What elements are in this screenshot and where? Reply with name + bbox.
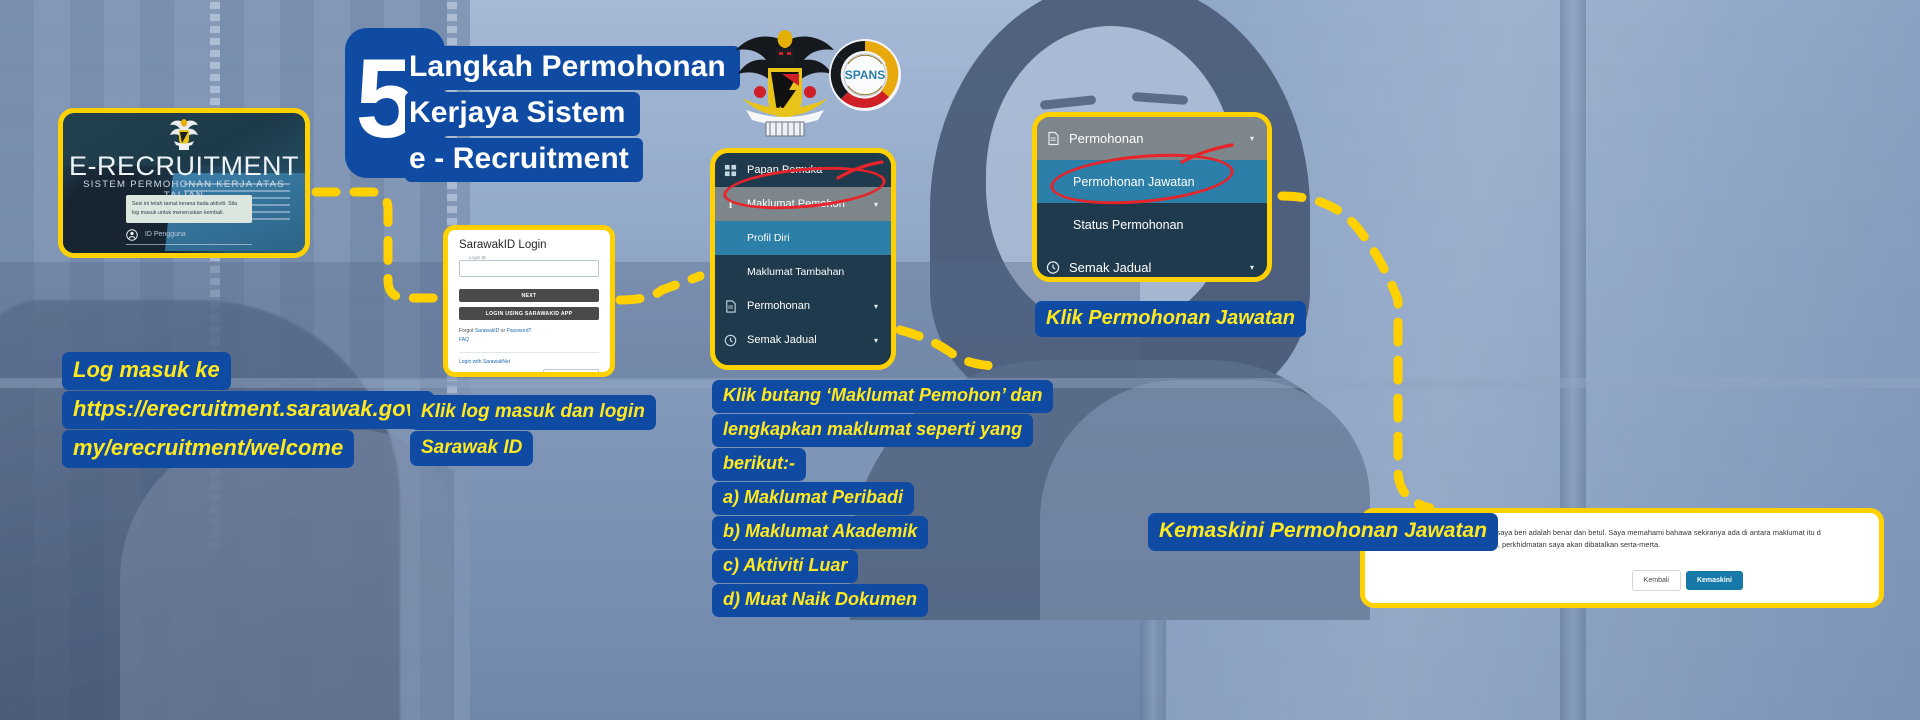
document-icon <box>1046 131 1060 146</box>
sidebar-label: Semak Jadual <box>747 334 871 346</box>
caption-line: Klik Permohonan Jawatan <box>1035 301 1306 337</box>
caption-line: b) Maklumat Akademik <box>712 516 928 549</box>
no-account-label: Don't have an account yet? <box>459 374 519 378</box>
faq-link[interactable]: FAQ <box>459 337 469 343</box>
title-line-3: e - Recruitment <box>405 138 643 182</box>
lock-icon <box>126 253 138 259</box>
dashboard-icon <box>724 164 738 177</box>
caption-line: d) Muat Naik Dokumen <box>712 584 928 617</box>
sidebar-label: Permohonan <box>747 300 871 312</box>
sidebar-item-maklumat-pemohon[interactable]: i Maklumat Pemohon ▾ <box>715 187 891 221</box>
password-field[interactable]: Kata Laluan <box>126 249 252 258</box>
document-icon <box>724 300 738 313</box>
sidebar-menu-permohonan[interactable]: Permohonan ▾ Permohonan Jawatan Status P… <box>1032 112 1272 282</box>
sidebar-label: Semak Jadual <box>1069 260 1247 275</box>
login-id-input[interactable] <box>459 260 599 277</box>
sidebar-item-permohonan[interactable]: Permohonan ▾ <box>1037 117 1267 160</box>
forgot-line: Forgot SarawakID or Password? <box>459 327 599 336</box>
caption-permohonan-jawatan: Klik Permohonan Jawatan <box>1035 301 1306 338</box>
sidebar-label: Maklumat Pemohon <box>747 198 871 210</box>
infographic-canvas: 5 Langkah Permohonan Kerjaya Sistem e - … <box>0 0 1920 720</box>
chevron-down-icon[interactable]: ▾ <box>871 336 881 345</box>
sarawakid-login-screenshot[interactable]: SarawakID Login Login ID NEXT LOGIN USIN… <box>443 225 615 377</box>
sidebar-item-permohonan[interactable]: Permohonan ▾ <box>715 289 891 323</box>
forgot-prefix: Forgot <box>459 328 475 334</box>
caption-line: berikut:- <box>712 448 806 481</box>
register-now-button[interactable]: REGISTER NOW <box>543 369 599 377</box>
declaration-actions: Kembali Kemaskini <box>1632 570 1743 591</box>
chevron-down-icon[interactable]: ▾ <box>1247 134 1257 143</box>
forgot-middle: or <box>499 328 506 334</box>
caption-sarawak-id: Klik log masuk dan login Sarawak ID <box>410 395 656 467</box>
erecruitment-login-screenshot[interactable]: E-RECRUITMENT SISTEM PERMOHONAN KERJA AT… <box>58 108 310 258</box>
caption-line: lengkapkan maklumat seperti yang <box>712 414 1033 447</box>
session-expired-message: Sesi ini telah tamat kerana tiada aktivi… <box>126 195 252 223</box>
helper-links: Forgot SarawakID or Password? FAQ <box>459 327 599 345</box>
sidebar-item-status-permohonan[interactable]: Status Permohonan <box>1037 203 1267 246</box>
svg-text:i: i <box>729 199 732 211</box>
kemaskini-button[interactable]: Kemaskini <box>1686 571 1743 590</box>
footer-area: Login with SarawakNet Don't have an acco… <box>459 359 599 377</box>
caption-line: Klik butang ‘Maklumat Pemohon’ dan <box>712 380 1053 413</box>
user-id-placeholder: ID Pengguna <box>145 231 186 238</box>
caption-line: Sarawak ID <box>410 431 533 466</box>
password-placeholder: Kata Laluan <box>145 255 182 258</box>
kembali-button[interactable]: Kembali <box>1632 570 1681 591</box>
sidebar-item-profil-diri[interactable]: Profil Diri <box>715 221 891 255</box>
register-row: Don't have an account yet? REGISTER NOW <box>459 369 599 377</box>
sidebar-label: Status Permohonan <box>1073 218 1257 232</box>
sarawakid-title: SarawakID Login <box>459 239 599 251</box>
sidebar-label: Permohonan Jawatan <box>1073 175 1257 189</box>
title-line-1: Langkah Permohonan <box>405 46 740 90</box>
divider <box>459 352 599 353</box>
caption-line: Klik log masuk dan login <box>410 395 656 430</box>
sidebar-label: Profil Diri <box>747 232 881 244</box>
info-icon: i <box>724 198 738 211</box>
forgot-password-link[interactable]: Password? <box>507 328 532 334</box>
sidebar-item-papan-pemuka[interactable]: Papan Pemuka <box>715 153 891 187</box>
sidebar-label: Papan Pemuka <box>747 164 871 176</box>
caption-line: Log masuk ke <box>62 352 231 390</box>
login-id-fieldwrap[interactable]: Login ID <box>459 260 599 278</box>
sidebar-label: Permohonan <box>1069 131 1247 146</box>
caption-maklumat-pemohon: Klik butang ‘Maklumat Pemohon’ dan lengk… <box>712 380 1053 618</box>
sidebar-menu-maklumat-pemohon[interactable]: Papan Pemuka i Maklumat Pemohon ▾ Profil… <box>710 148 896 370</box>
caption-kemaskini: Kemaskini Permohonan Jawatan <box>1148 513 1498 552</box>
login-id-legend: Login ID <box>466 255 489 260</box>
sidebar-item-permohonan-jawatan[interactable]: Permohonan Jawatan <box>1037 160 1267 203</box>
sarawaknet-login-link[interactable]: Login with SarawakNet <box>459 359 510 365</box>
chevron-down-icon[interactable]: ▾ <box>1247 263 1257 272</box>
svg-text:SPANS: SPANS <box>845 68 885 82</box>
forgot-sarawakid-link[interactable]: SarawakID <box>475 328 499 334</box>
next-button[interactable]: NEXT <box>459 289 599 302</box>
clock-icon <box>724 334 738 347</box>
title-line-2: Kerjaya Sistem <box>405 92 640 136</box>
caption-login-url: Log masuk ke https://erecruitment.sarawa… <box>62 352 434 469</box>
caption-line: a) Maklumat Peribadi <box>712 482 914 515</box>
chevron-down-icon[interactable]: ▾ <box>871 200 881 209</box>
caption-line: https://erecruitment.sarawak.gov. <box>62 391 434 429</box>
caption-line: c) Aktiviti Luar <box>712 550 858 583</box>
title-block: Langkah Permohonan Kerjaya Sistem e - Re… <box>405 46 740 184</box>
user-icon <box>126 229 138 241</box>
caption-line: Kemaskini Permohonan Jawatan <box>1148 513 1498 551</box>
erecruitment-title: E-RECRUITMENT <box>63 151 305 182</box>
spans-logo-icon: SPANS <box>828 38 902 112</box>
user-id-field[interactable]: ID Pengguna <box>126 225 252 245</box>
sarawak-coat-of-arms-icon <box>730 24 840 144</box>
sarawak-crest-icon <box>168 117 200 151</box>
caption-line: my/erecruitment/welcome <box>62 430 354 468</box>
chevron-down-icon[interactable]: ▾ <box>871 302 881 311</box>
clock-icon <box>1046 260 1060 275</box>
sidebar-label: Maklumat Tambahan <box>747 266 881 278</box>
login-using-sarawakid-app-button[interactable]: LOGIN USING SARAWAKID APP <box>459 307 599 320</box>
sidebar-item-semak-jadual[interactable]: Semak Jadual ▾ <box>1037 246 1267 282</box>
sidebar-item-maklumat-tambahan[interactable]: Maklumat Tambahan <box>715 255 891 289</box>
sidebar-item-semak-jadual[interactable]: Semak Jadual ▾ <box>715 323 891 357</box>
